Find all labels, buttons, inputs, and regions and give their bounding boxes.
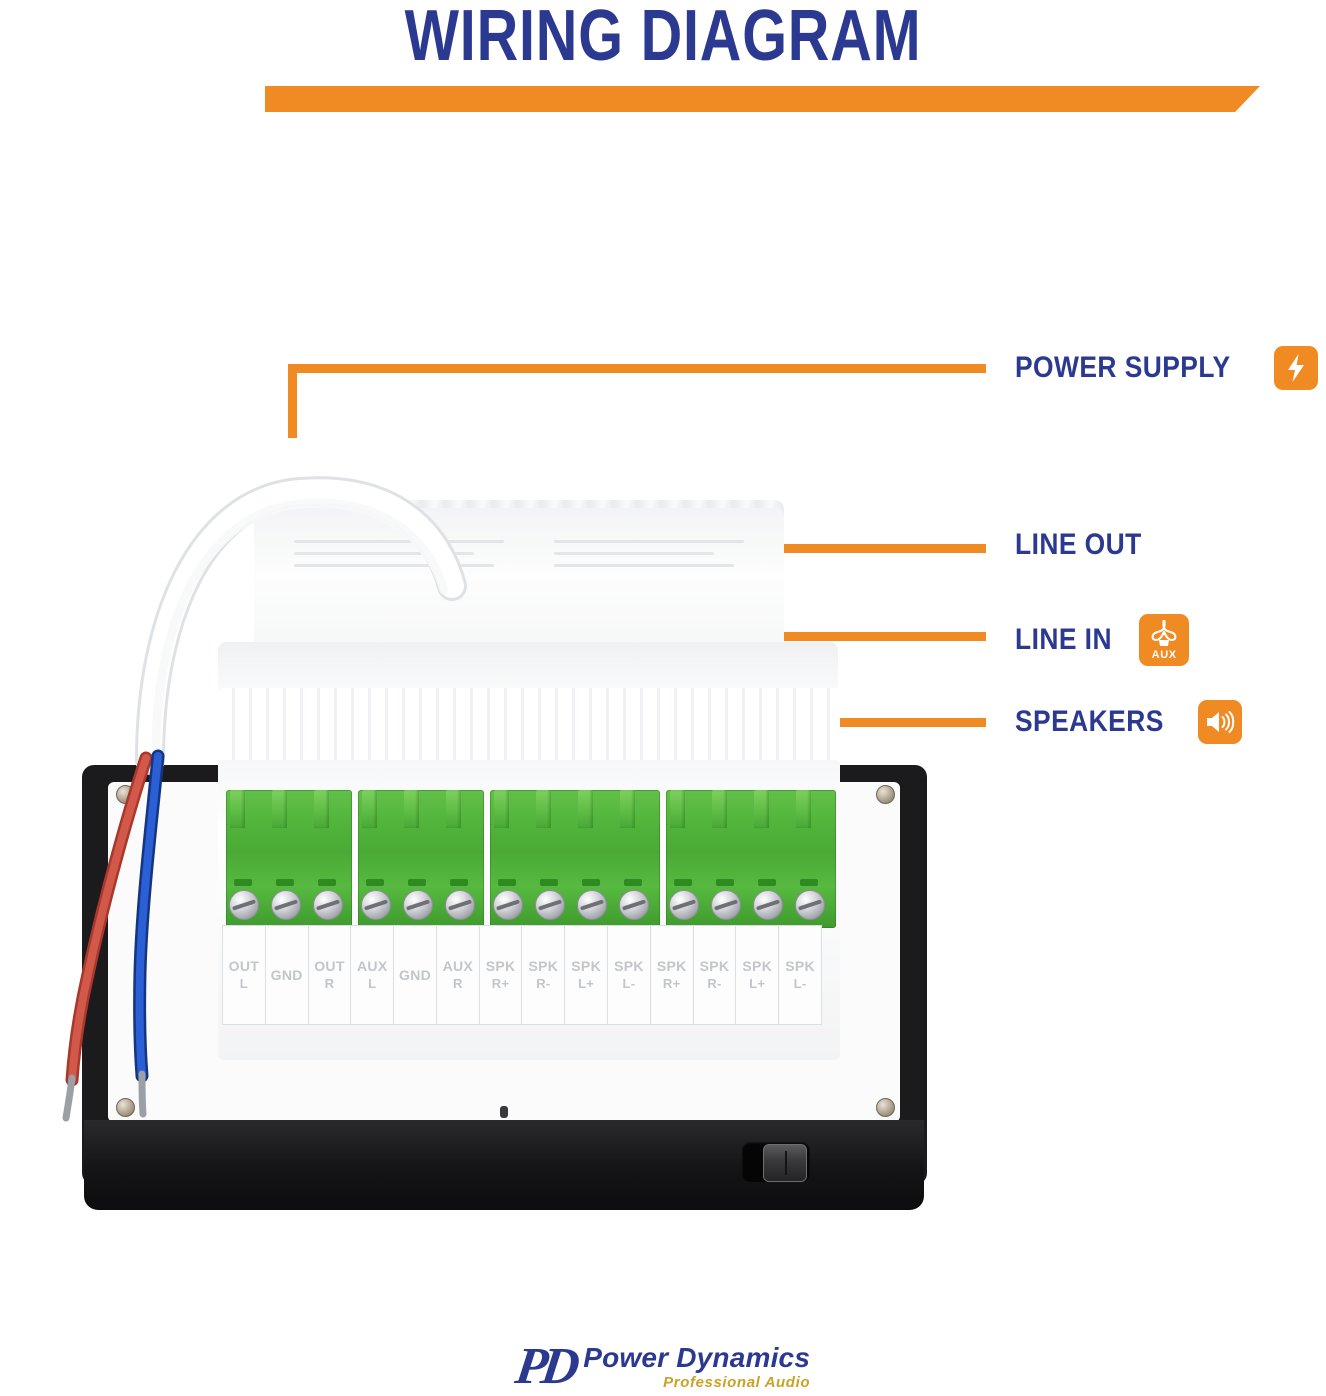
logo-brand-name: Power Dynamics — [583, 1344, 810, 1372]
terminal-legend-top: SPK — [571, 958, 601, 975]
terminal-screw — [493, 890, 523, 920]
mounting-screw-bottom-right — [876, 1098, 895, 1117]
terminal-legend-bottom: L- — [794, 975, 807, 992]
callout-speakers[interactable]: SPEAKERS — [1015, 700, 1242, 744]
mounting-screw-bottom-left — [116, 1098, 135, 1117]
terminal-legend-bottom: L — [240, 975, 248, 992]
terminal-legend-bottom: R+ — [663, 975, 681, 992]
terminal-legend-bottom: R — [453, 975, 463, 992]
terminal-legend-cell: SPK R+ — [651, 926, 694, 1024]
terminal-legend-bottom: R- — [707, 975, 721, 992]
callout-label-power-supply: POWER SUPPLY — [1015, 351, 1231, 385]
terminal-legend-top: SPK — [614, 958, 644, 975]
base-vent-hole — [500, 1106, 508, 1118]
logo-tagline: Professional Audio — [663, 1375, 810, 1390]
power-cable — [0, 400, 620, 880]
terminal-screw — [619, 890, 649, 920]
terminal-legend-top: SPK — [529, 958, 559, 975]
terminal-legend-cell: OUT L — [223, 926, 266, 1024]
power-switch[interactable] — [763, 1144, 807, 1182]
terminal-legend-cell: AUX L — [351, 926, 394, 1024]
callout-power-supply[interactable]: POWER SUPPLY — [1015, 346, 1318, 390]
terminal-legend-bottom: L- — [622, 975, 635, 992]
terminal-legend-top: GND — [399, 967, 431, 984]
terminal-legend-bottom: R+ — [492, 975, 510, 992]
callout-label-line-in: LINE IN — [1015, 623, 1112, 657]
terminal-legend-cell: AUX R — [437, 926, 480, 1024]
callout-label-line-out: LINE OUT — [1015, 528, 1142, 562]
terminal-legend-bottom: L — [368, 975, 376, 992]
page-title: WIRING DIAGRAM — [133, 0, 1194, 74]
terminal-legend-top: OUT — [229, 958, 259, 975]
title-area: WIRING DIAGRAM — [0, 0, 1326, 130]
terminal-screw — [753, 890, 783, 920]
terminal-legend-top: AUX — [443, 958, 473, 975]
terminal-legend-cell: SPK L+ — [736, 926, 779, 1024]
logo-monogram: PD — [512, 1341, 577, 1393]
terminal-legend-top: SPK — [700, 958, 730, 975]
brand-logo: PD Power Dynamics Professional Audio — [0, 1338, 1326, 1396]
terminal-legend-top: SPK — [785, 958, 815, 975]
terminal-screw — [313, 890, 343, 920]
terminal-legend-top: GND — [271, 967, 303, 984]
aux-cable-icon: AUX — [1139, 614, 1189, 666]
terminal-legend-cell: GND — [394, 926, 437, 1024]
terminal-screw — [795, 890, 825, 920]
terminal-legend-cell: SPK R+ — [480, 926, 523, 1024]
terminal-legend-cell: SPK L+ — [565, 926, 608, 1024]
terminal-screw — [577, 890, 607, 920]
leader-line-power-supply-horizontal — [288, 364, 986, 373]
terminal-legend-bottom: R — [325, 975, 335, 992]
callout-line-in[interactable]: LINE IN AUX — [1015, 614, 1189, 666]
terminal-legend-top: SPK — [486, 958, 516, 975]
terminal-screw — [403, 890, 433, 920]
terminal-screw — [535, 890, 565, 920]
terminal-legend-top: SPK — [657, 958, 687, 975]
terminal-legend-bottom: R- — [536, 975, 550, 992]
lightning-bolt-icon — [1274, 346, 1318, 390]
terminal-legend-top: AUX — [357, 958, 387, 975]
terminal-legend-cell: SPK R- — [694, 926, 737, 1024]
terminal-screw — [229, 890, 259, 920]
terminal-legend-panel: OUT L GND OUT R AUX L GND AUX R SPK R+ S… — [222, 925, 822, 1025]
terminal-legend-cell: GND — [266, 926, 309, 1024]
terminal-screw — [361, 890, 391, 920]
terminal-screw — [445, 890, 475, 920]
aux-icon-text: AUX — [1152, 649, 1177, 661]
speaker-icon — [1198, 700, 1242, 744]
terminal-block-speakers-b[interactable] — [666, 790, 836, 928]
terminal-legend-top: SPK — [742, 958, 772, 975]
terminal-legend-cell: SPK L- — [608, 926, 651, 1024]
terminal-legend-top: OUT — [314, 958, 344, 975]
mounting-screw-top-right — [876, 785, 895, 804]
terminal-screw — [711, 890, 741, 920]
terminal-legend-bottom: L+ — [578, 975, 594, 992]
title-underline-bar — [265, 86, 1260, 112]
terminal-screw — [669, 890, 699, 920]
callout-line-out[interactable]: LINE OUT — [1015, 528, 1159, 562]
terminal-screw — [271, 890, 301, 920]
callout-label-speakers: SPEAKERS — [1015, 705, 1164, 739]
terminal-legend-bottom: L+ — [749, 975, 765, 992]
terminal-legend-cell: OUT R — [309, 926, 352, 1024]
terminal-legend-cell: SPK R- — [522, 926, 565, 1024]
terminal-legend-cell: SPK L- — [779, 926, 821, 1024]
